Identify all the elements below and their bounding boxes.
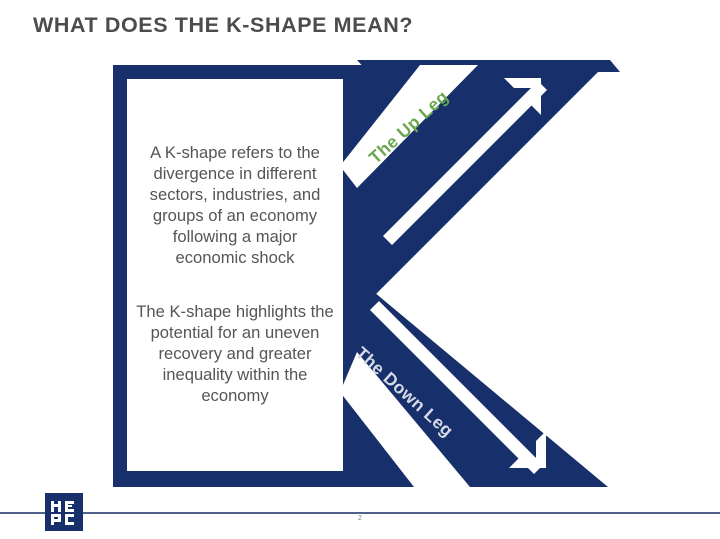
definition-text-box: A K-shape refers to the divergence in di… [127,79,343,471]
footer-divider [0,512,720,514]
nepc-logo-mark [45,493,83,531]
up-leg-band [350,65,605,320]
slide-canvas: WHAT DOES THE K-SHAPE MEAN? [0,0,720,539]
k-shape-diagram: A K-shape refers to the divergence in di… [0,0,720,500]
up-leg-top-edge [357,60,620,72]
page-number: 2 [0,515,720,522]
definition-paragraph-2: The K-shape highlights the potential for… [135,302,335,407]
definition-paragraph-1: A K-shape refers to the divergence in di… [135,143,335,268]
k-shape-svg [0,0,720,500]
nepc-logo [45,493,83,531]
